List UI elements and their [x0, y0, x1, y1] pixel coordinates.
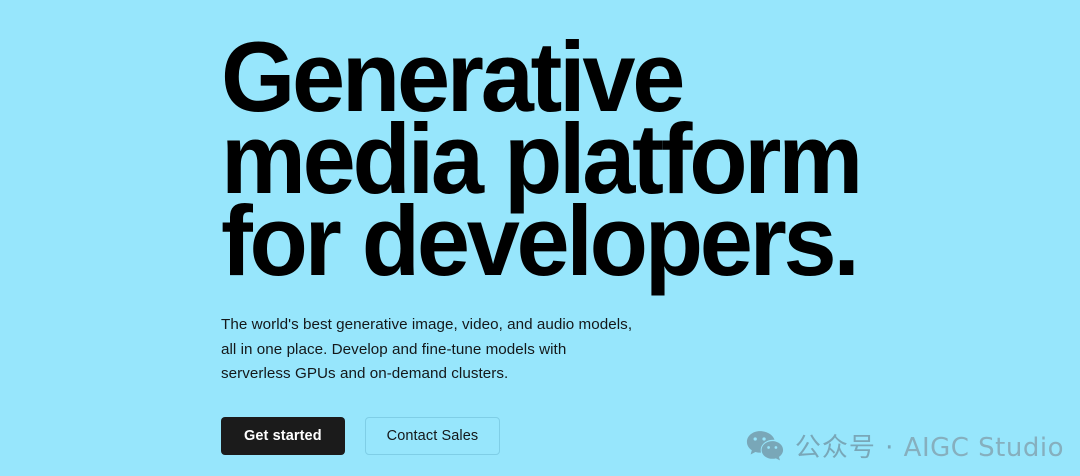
watermark-name: AIGC Studio [904, 433, 1064, 463]
page-title: Generative media platform for developers… [221, 0, 897, 282]
get-started-button[interactable]: Get started [221, 417, 345, 455]
hero-subcopy: The world's best generative image, video… [221, 282, 633, 387]
headline-line-3: for developers. [221, 200, 897, 282]
contact-sales-button[interactable]: Contact Sales [365, 417, 501, 455]
hero-content: Generative media platform for developers… [221, 0, 921, 455]
cta-button-row: Get started Contact Sales [221, 387, 921, 455]
hero-section: Generative media platform for developers… [0, 0, 1080, 476]
